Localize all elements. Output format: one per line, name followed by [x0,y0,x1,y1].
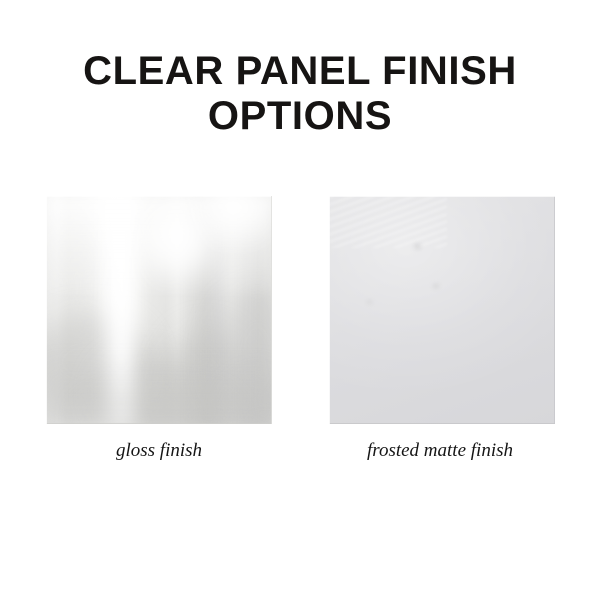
finish-option-gloss: gloss finish [46,196,272,463]
page-title: CLEAR PANEL FINISH OPTIONS [0,49,600,139]
frosted-matte-finish-caption: frosted matte finish [327,439,553,463]
page-title-line-1: CLEAR PANEL FINISH [0,49,600,94]
gloss-swatch-edge [46,196,272,424]
gloss-finish-swatch [46,196,272,424]
gloss-finish-caption: gloss finish [46,439,272,463]
matte-swatch-edge [329,196,555,424]
image-canvas: CLEAR PANEL FINISH OPTIONS [0,0,600,600]
finish-comparison-row: gloss finish frosted matte finish [0,196,600,466]
finish-option-frosted-matte: frosted matte finish [329,196,555,463]
frosted-matte-finish-swatch [329,196,555,424]
page-title-line-2: OPTIONS [0,94,600,139]
